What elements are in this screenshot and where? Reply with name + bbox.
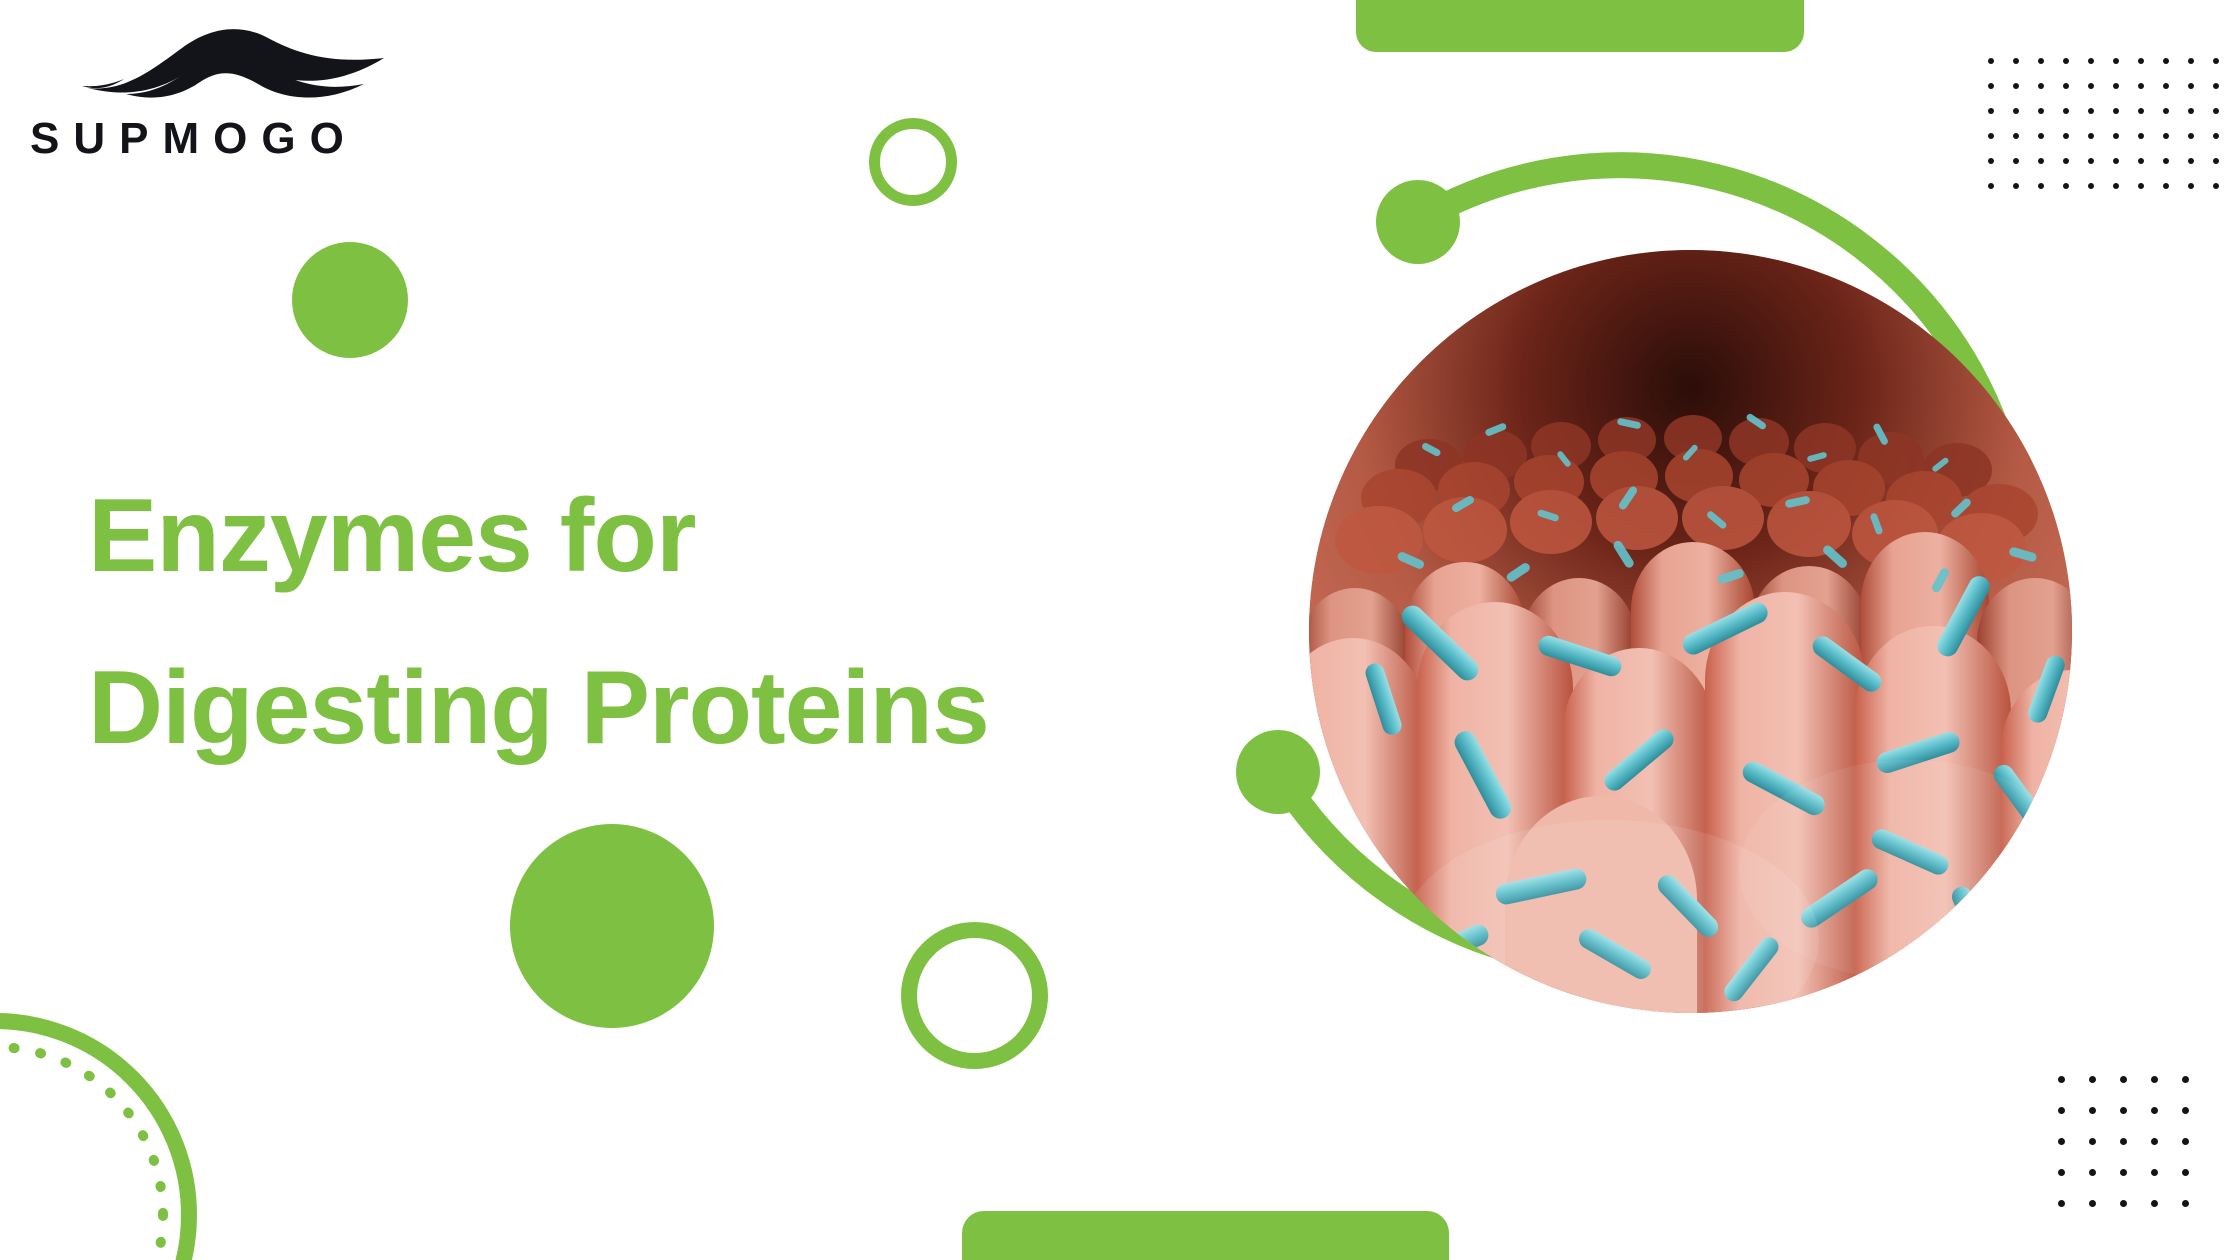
dot-grid-dot bbox=[2038, 58, 2044, 64]
dot-grid-row bbox=[2058, 1200, 2213, 1207]
dot-grid-dot bbox=[2088, 58, 2094, 64]
dot-grid-dot bbox=[2182, 1200, 2189, 1207]
page-title-line-1: Enzymes for bbox=[88, 450, 1268, 622]
dot-grid-dot bbox=[2063, 108, 2069, 114]
dot-grid-dot bbox=[2120, 1169, 2127, 1176]
dot-grid-dot bbox=[2113, 108, 2119, 114]
dot-grid-row bbox=[1988, 58, 2238, 64]
dot-grid-dot bbox=[2063, 58, 2069, 64]
dot-grid-dot bbox=[2138, 83, 2144, 89]
dot-grid-dot bbox=[2188, 108, 2194, 114]
dot-grid-dot bbox=[2058, 1169, 2065, 1176]
dot-grid-dot bbox=[2088, 83, 2094, 89]
decor-dot-grid-bottom-right bbox=[2058, 1076, 2213, 1231]
decor-corner-arc bbox=[0, 1000, 210, 1260]
dot-grid-dot bbox=[2188, 83, 2194, 89]
dot-grid-row bbox=[2058, 1138, 2213, 1145]
dot-grid-dot bbox=[2163, 108, 2169, 114]
decor-bottom-green-bar bbox=[962, 1211, 1449, 1260]
dot-grid-dot bbox=[2120, 1076, 2127, 1083]
dot-grid-dot bbox=[2089, 1200, 2096, 1207]
dot-grid-dot bbox=[2182, 1076, 2189, 1083]
brand-wordmark: SUPMOGO bbox=[30, 114, 420, 164]
villi-illustration bbox=[1309, 250, 2072, 1013]
dot-grid-row bbox=[2058, 1076, 2213, 1083]
dot-grid-dot bbox=[2058, 1200, 2065, 1207]
dot-grid-dot bbox=[2138, 133, 2144, 139]
hero-photo bbox=[1309, 250, 2072, 1013]
page-title-line-2: Digesting Proteins bbox=[88, 622, 1268, 794]
dot-grid-dot bbox=[2038, 83, 2044, 89]
dot-grid-dot bbox=[2188, 183, 2194, 189]
dot-grid-dot bbox=[2163, 158, 2169, 164]
dot-grid-dot bbox=[2089, 1076, 2096, 1083]
dot-grid-dot bbox=[2188, 58, 2194, 64]
dot-grid-dot bbox=[2213, 183, 2219, 189]
decor-outline-circle-large bbox=[901, 922, 1048, 1069]
decor-filled-circle-small bbox=[292, 242, 408, 358]
ring-endcap-left-icon bbox=[1236, 730, 1320, 814]
dot-grid-dot bbox=[2182, 1138, 2189, 1145]
dot-grid-dot bbox=[2120, 1138, 2127, 1145]
dot-grid-dot bbox=[2088, 108, 2094, 114]
dot-grid-dot bbox=[2088, 133, 2094, 139]
dot-grid-dot bbox=[2163, 58, 2169, 64]
dot-grid-dot bbox=[2089, 1169, 2096, 1176]
dot-grid-dot bbox=[2151, 1107, 2158, 1114]
dot-grid-row bbox=[2058, 1107, 2213, 1114]
dot-grid-dot bbox=[2138, 108, 2144, 114]
decor-top-green-bar bbox=[1356, 0, 1804, 52]
dot-grid-dot bbox=[2120, 1200, 2127, 1207]
dot-grid-dot bbox=[2151, 1169, 2158, 1176]
dot-grid-dot bbox=[2163, 183, 2169, 189]
dot-grid-dot bbox=[2113, 83, 2119, 89]
dot-grid-dot bbox=[2013, 133, 2019, 139]
dot-grid-dot bbox=[1988, 133, 1994, 139]
decor-filled-circle-large bbox=[510, 824, 714, 1028]
dot-grid-dot bbox=[1988, 108, 1994, 114]
wave-swoosh-icon bbox=[72, 22, 392, 108]
dot-grid-dot bbox=[2089, 1107, 2096, 1114]
brand-logo[interactable]: SUPMOGO bbox=[30, 22, 420, 164]
dot-grid-dot bbox=[2151, 1076, 2158, 1083]
dot-grid-dot bbox=[2213, 158, 2219, 164]
dot-grid-dot bbox=[2038, 108, 2044, 114]
dot-grid-dot bbox=[2063, 133, 2069, 139]
page-title: Enzymes for Digesting Proteins bbox=[88, 450, 1268, 794]
dot-grid-row bbox=[1988, 108, 2238, 114]
dot-grid-dot bbox=[2013, 108, 2019, 114]
dot-grid-dot bbox=[1988, 58, 1994, 64]
dot-grid-dot bbox=[2058, 1107, 2065, 1114]
dot-grid-dot bbox=[2120, 1107, 2127, 1114]
dot-grid-dot bbox=[2138, 58, 2144, 64]
dot-grid-dot bbox=[2182, 1107, 2189, 1114]
dot-grid-dot bbox=[1988, 83, 1994, 89]
dot-grid-dot bbox=[2163, 133, 2169, 139]
dot-grid-dot bbox=[2151, 1200, 2158, 1207]
dot-grid-row bbox=[1988, 133, 2238, 139]
dot-grid-dot bbox=[2188, 158, 2194, 164]
dot-grid-dot bbox=[2063, 83, 2069, 89]
dot-grid-dot bbox=[2038, 133, 2044, 139]
dot-grid-dot bbox=[2188, 133, 2194, 139]
dot-grid-dot bbox=[2113, 58, 2119, 64]
dot-grid-row bbox=[2058, 1169, 2213, 1176]
dot-grid-dot bbox=[2013, 83, 2019, 89]
dot-grid-dot bbox=[2058, 1138, 2065, 1145]
dot-grid-dot bbox=[2213, 58, 2219, 64]
decor-outline-circle-small bbox=[869, 118, 957, 206]
dot-grid-dot bbox=[2013, 58, 2019, 64]
slide-canvas: SUPMOGO Enzymes for Digesting Proteins bbox=[0, 0, 2240, 1260]
dot-grid-row bbox=[1988, 83, 2238, 89]
dot-grid-dot bbox=[2089, 1138, 2096, 1145]
hero-graphic bbox=[1243, 152, 2143, 1052]
dot-grid-dot bbox=[2163, 83, 2169, 89]
dot-grid-dot bbox=[2213, 133, 2219, 139]
dot-grid-dot bbox=[2182, 1169, 2189, 1176]
dot-grid-dot bbox=[2213, 83, 2219, 89]
corner-arc-solid bbox=[0, 1021, 189, 1260]
dot-grid-dot bbox=[2058, 1076, 2065, 1083]
dot-grid-dot bbox=[2113, 133, 2119, 139]
dot-grid-dot bbox=[2151, 1138, 2158, 1145]
dot-grid-dot bbox=[2213, 108, 2219, 114]
